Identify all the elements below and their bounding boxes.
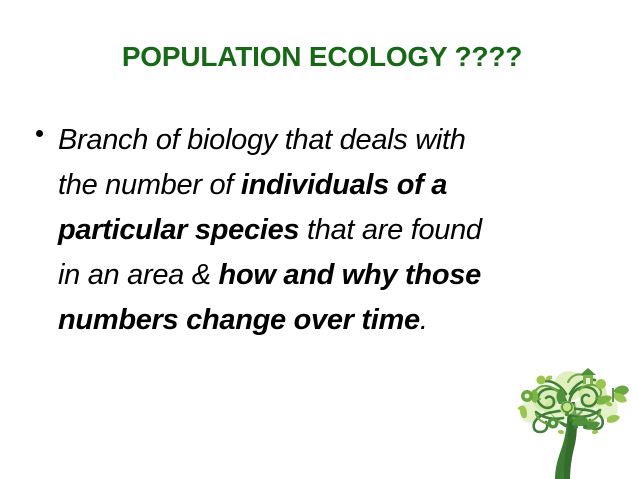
- butterfly-icon: [613, 386, 629, 403]
- text-run-5-2: .: [420, 304, 428, 336]
- text-run-3-2: that are found: [299, 214, 482, 246]
- text-line-5: numbers change over time.: [58, 298, 613, 343]
- text-run-4-2: how and why those: [219, 259, 481, 291]
- text-line-2: the number of individuals of a: [58, 163, 613, 208]
- text-run-3-1: particular species: [58, 214, 299, 246]
- text-line-4: in an area & how and why those: [58, 253, 613, 298]
- bullet-icon: [36, 130, 43, 137]
- eco-tree-icon: [497, 360, 638, 479]
- body-content: Branch of biology that deals with the nu…: [33, 118, 613, 343]
- text-run-2-1: the number of: [58, 169, 241, 201]
- text-run-5-1: numbers change over time: [58, 304, 420, 336]
- text-run-1-1: Branch of biology that deals with: [58, 124, 466, 156]
- text-run-2-2: individuals of a: [241, 169, 447, 201]
- tree-canopy-group: [517, 368, 629, 435]
- list-item: Branch of biology that deals with the nu…: [33, 118, 613, 343]
- text-line-1: Branch of biology that deals with: [58, 118, 613, 163]
- slide-canvas: POPULATION ECOLOGY ???? Branch of biolog…: [0, 0, 638, 479]
- bullet-text: Branch of biology that deals with the nu…: [58, 118, 613, 343]
- text-line-3: particular species that are found: [58, 208, 613, 253]
- page-title: POPULATION ECOLOGY ????: [0, 41, 638, 73]
- text-run-4-1: in an area &: [58, 259, 219, 291]
